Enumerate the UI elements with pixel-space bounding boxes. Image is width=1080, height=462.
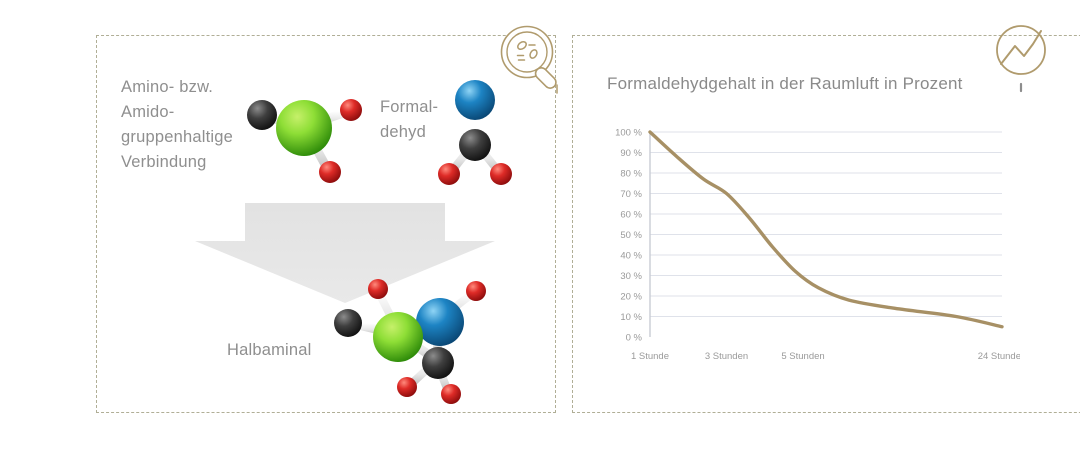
y-axis-tick-label: 70 % <box>620 189 642 200</box>
trend-chart-icon <box>988 20 1058 94</box>
series-line <box>650 132 1002 327</box>
x-axis-tick-label: 3 Stunden <box>705 351 748 362</box>
formaldehyde-molecule-icon <box>433 70 518 190</box>
x-axis-tick-label: 5 Stunden <box>781 351 824 362</box>
y-axis-tick-label: 90 % <box>620 148 642 159</box>
x-axis-tick-label: 24 Stunden <box>978 351 1020 362</box>
y-axis-tick-label: 50 % <box>620 230 642 241</box>
line-chart: 100 %90 %80 %70 %60 %50 %40 %30 %20 %10 … <box>600 120 1020 385</box>
chart-title: Formaldehydgehalt in der Raumluft in Pro… <box>607 74 963 94</box>
y-axis-tick-label: 80 % <box>620 169 642 180</box>
y-axis-tick-label: 100 % <box>615 128 642 139</box>
amino-compound-molecule-icon <box>238 78 373 188</box>
y-axis-tick-label: 20 % <box>620 292 642 303</box>
halbaminal-molecule-icon <box>328 275 503 405</box>
y-axis-tick-label: 30 % <box>620 271 642 282</box>
y-axis-tick-label: 60 % <box>620 210 642 221</box>
y-axis-tick-label: 0 % <box>626 333 643 344</box>
y-axis-tick-label: 40 % <box>620 251 642 262</box>
infographic-root: Amino- bzw. Amido- gruppenhaltige Verbin… <box>0 0 1080 462</box>
x-axis-tick-label: 1 Stunde <box>631 351 669 362</box>
y-axis-tick-label: 10 % <box>620 312 642 323</box>
